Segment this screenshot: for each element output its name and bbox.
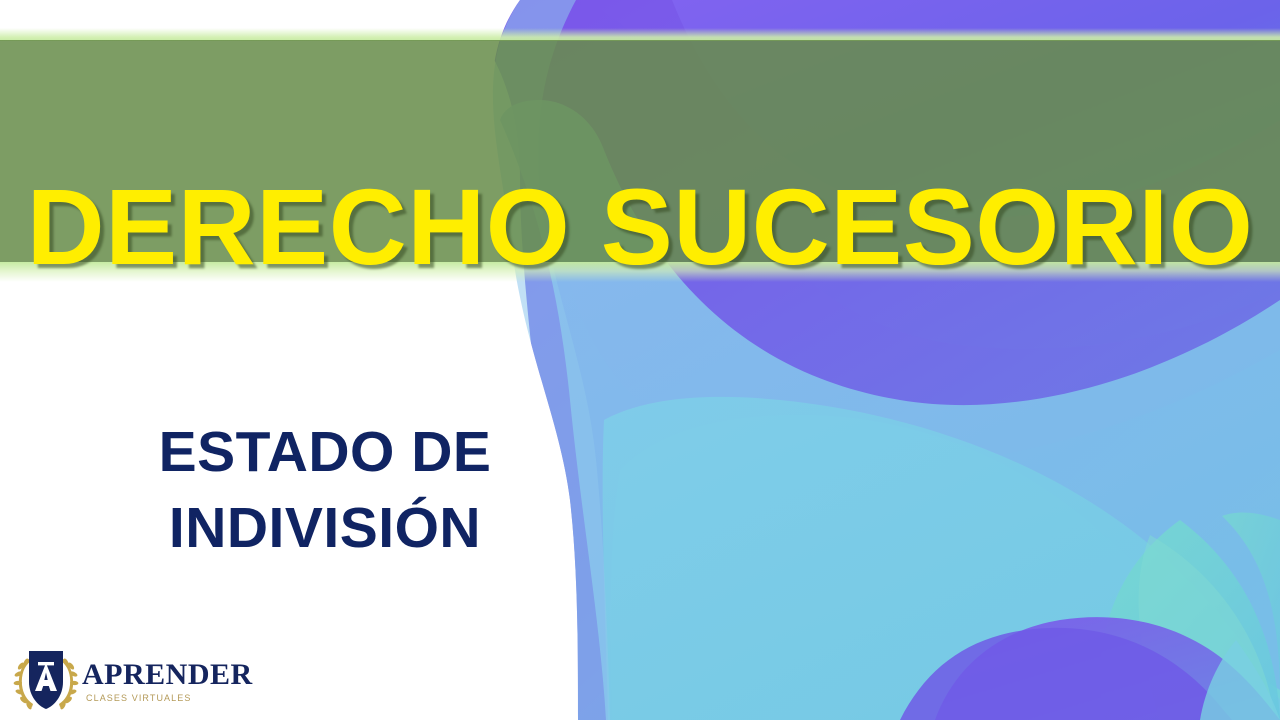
subtitle-line-2: INDIVISIÓN — [60, 491, 590, 567]
shield-wreath-icon — [12, 646, 80, 712]
logo-wordmark: APRENDER — [82, 660, 253, 690]
aprender-logo: APRENDER CLASES VIRTUALES — [12, 645, 253, 713]
logo-text-block: APRENDER CLASES VIRTUALES — [82, 656, 253, 703]
slide-title: DERECHO SUCESORIO — [0, 100, 1280, 352]
logo-tagline: CLASES VIRTUALES — [86, 694, 253, 703]
subtitle-line-1: ESTADO DE — [60, 415, 590, 491]
slide-subtitle: ESTADO DE INDIVISIÓN — [60, 415, 590, 567]
slide-canvas: DERECHO SUCESORIO ESTADO DE INDIVISIÓN — [0, 0, 1280, 720]
